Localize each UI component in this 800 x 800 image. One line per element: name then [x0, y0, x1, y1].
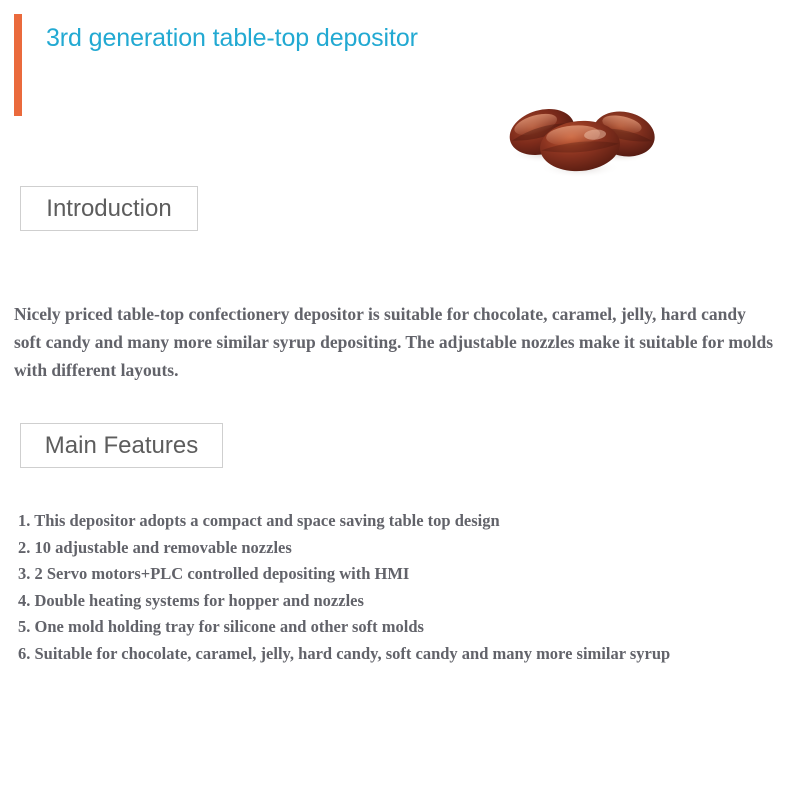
introduction-heading-box: Introduction: [20, 186, 198, 231]
list-item: 5. One mold holding tray for silicone an…: [18, 614, 788, 641]
candy-image: [492, 92, 672, 182]
product-photo-candies: [492, 92, 672, 182]
list-item: 2. 10 adjustable and removable nozzles: [18, 535, 788, 562]
list-item: 1. This depositor adopts a compact and s…: [18, 508, 788, 535]
list-item: 6. Suitable for chocolate, caramel, jell…: [18, 641, 788, 668]
title-block: 3rd generation table-top depositor: [14, 14, 418, 116]
list-item: 3. 2 Servo motors+PLC controlled deposit…: [18, 561, 788, 588]
main-features-heading-box: Main Features: [20, 423, 223, 468]
page-title: 3rd generation table-top depositor: [46, 24, 418, 53]
list-item: 4. Double heating systems for hopper and…: [18, 588, 788, 615]
main-features-list: 1. This depositor adopts a compact and s…: [18, 508, 788, 667]
orange-accent-bar: [14, 14, 22, 116]
introduction-paragraph: Nicely priced table-top confectionery de…: [14, 300, 774, 384]
introduction-heading-label: Introduction: [32, 195, 185, 223]
main-features-heading-label: Main Features: [31, 432, 212, 460]
